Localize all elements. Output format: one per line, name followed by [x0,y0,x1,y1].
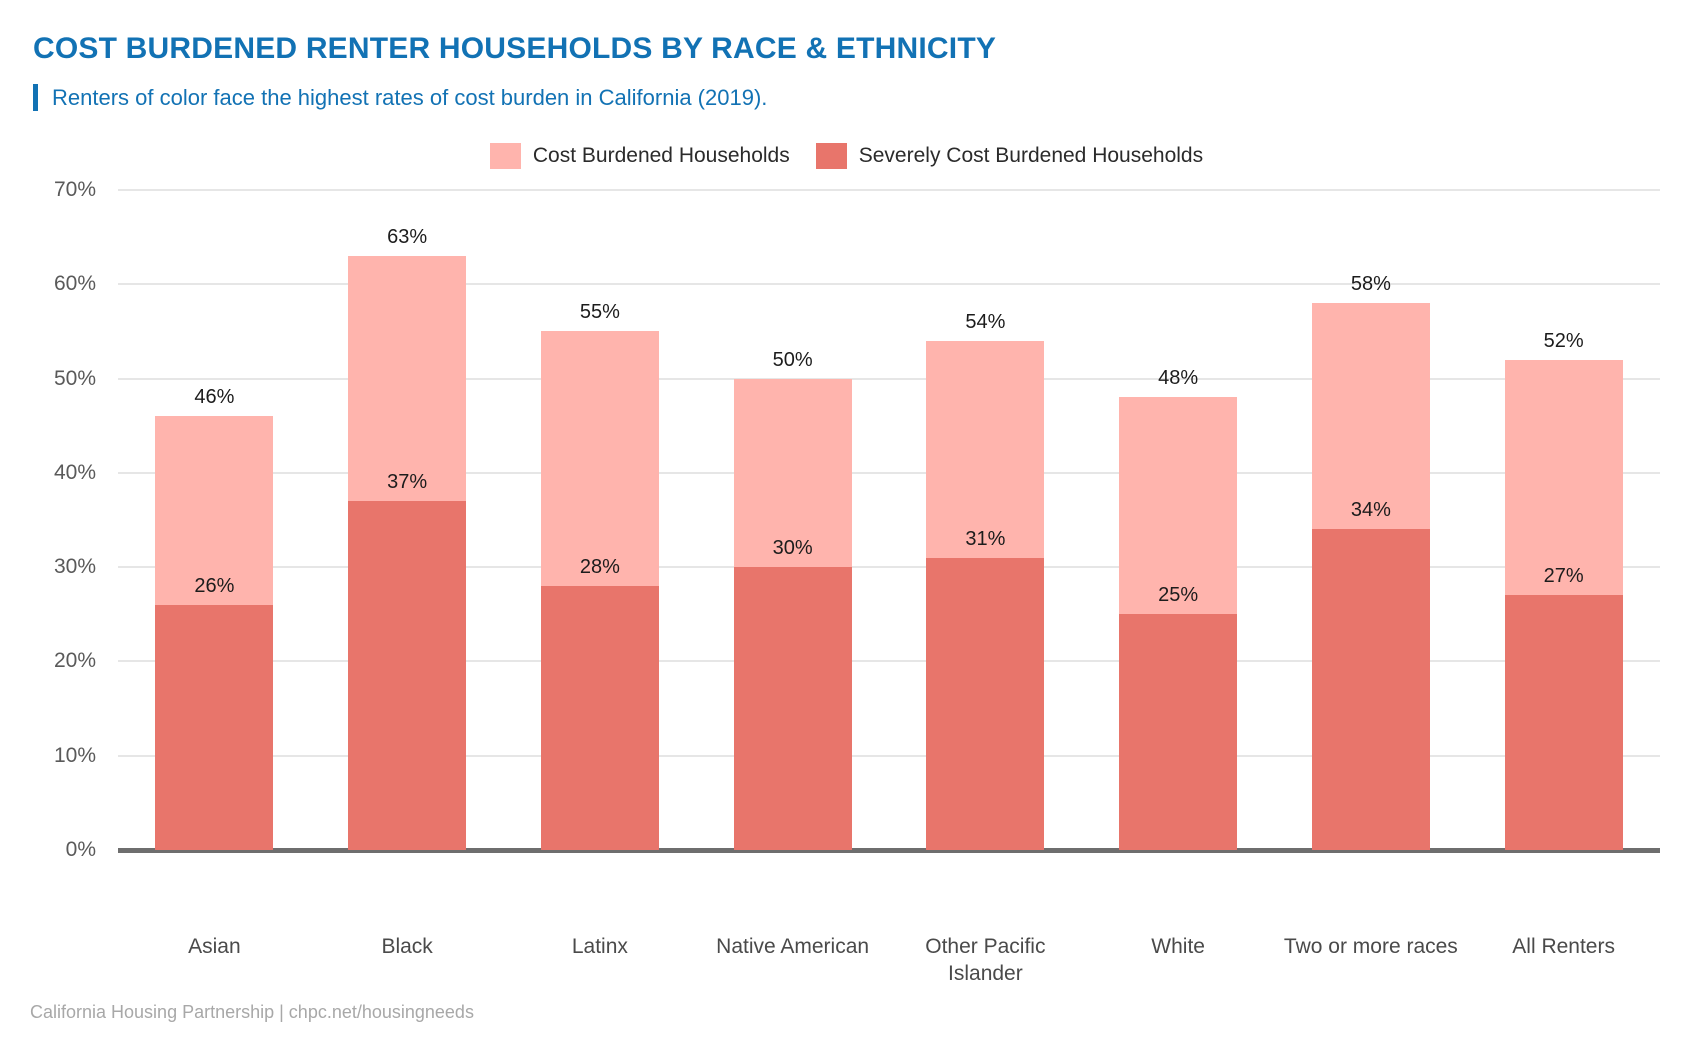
bar-group[interactable]: 54%31% [926,190,1044,915]
chart-legend: Cost Burdened HouseholdsSeverely Cost Bu… [0,143,1693,169]
legend-swatch-icon [816,143,847,169]
x-axis: AsianBlackLatinxNative AmericanOther Pac… [118,915,1660,1005]
y-axis-tick-label: 0% [66,838,96,862]
bar-value-label-total: 54% [965,311,1005,334]
bar-segment-severely-cost-burdened[interactable] [1505,595,1623,850]
bar-value-label-total: 58% [1351,273,1391,296]
y-axis-tick-label: 30% [54,555,96,579]
page-title: COST BURDENED RENTER HOUSEHOLDS BY RACE … [33,32,996,66]
bar-segment-severely-cost-burdened[interactable] [734,567,852,850]
bar-value-label-total: 48% [1158,367,1198,390]
y-axis-tick-label: 50% [54,367,96,391]
y-axis-tick-label: 60% [54,272,96,296]
bar-value-label-severe: 34% [1351,499,1391,522]
bar-group[interactable]: 50%30% [734,190,852,915]
chart-source-footer: California Housing Partnership | chpc.ne… [30,1002,474,1023]
x-axis-tick-label: White [1082,933,1275,960]
x-axis-tick-label: All Renters [1467,933,1660,960]
x-axis-tick-label: Latinx [504,933,697,960]
bar-segment-severely-cost-burdened[interactable] [1119,614,1237,850]
bar-value-label-total: 63% [387,226,427,249]
bar-value-label-severe: 26% [194,575,234,598]
bar-value-label-total: 52% [1544,330,1584,353]
bar-value-label-severe: 28% [580,556,620,579]
x-axis-tick-label: Other Pacific Islander [889,933,1082,987]
bar-group[interactable]: 46%26% [155,190,273,915]
plot-area: 0%10%20%30%40%50%60%70% 46%26%63%37%55%2… [0,190,1693,915]
bar-segment-severely-cost-burdened[interactable] [926,558,1044,850]
y-axis-tick-label: 10% [54,744,96,768]
bar-value-label-total: 46% [194,386,234,409]
legend-label: Cost Burdened Households [533,144,790,168]
bar-value-label-severe: 27% [1544,565,1584,588]
x-axis-tick-label: Asian [118,933,311,960]
bars-layer: 46%26%63%37%55%28%50%30%54%31%48%25%58%3… [118,190,1660,915]
bar-segment-severely-cost-burdened[interactable] [1312,529,1430,850]
chart-subtitle-row: Renters of color face the highest rates … [33,84,767,111]
legend-item-cost-burdened[interactable]: Cost Burdened Households [490,143,790,169]
bar-value-label-total: 55% [580,301,620,324]
chart-subtitle: Renters of color face the highest rates … [52,85,767,111]
bar-segment-severely-cost-burdened[interactable] [348,501,466,850]
bar-group[interactable]: 63%37% [348,190,466,915]
bar-group[interactable]: 48%25% [1119,190,1237,915]
bar-value-label-severe: 30% [773,537,813,560]
bar-value-label-severe: 31% [965,528,1005,551]
legend-item-severely-cost-burdened[interactable]: Severely Cost Burdened Households [816,143,1203,169]
bar-group[interactable]: 52%27% [1505,190,1623,915]
bar-group[interactable]: 55%28% [541,190,659,915]
bar-segment-severely-cost-burdened[interactable] [155,605,273,850]
bar-group[interactable]: 58%34% [1312,190,1430,915]
y-axis-tick-label: 20% [54,649,96,673]
y-axis-tick-label: 40% [54,461,96,485]
x-axis-tick-label: Native American [696,933,889,960]
legend-swatch-icon [490,143,521,169]
y-axis-tick-label: 70% [54,178,96,202]
x-axis-tick-label: Two or more races [1275,933,1468,960]
x-axis-tick-label: Black [311,933,504,960]
legend-label: Severely Cost Burdened Households [859,144,1203,168]
bar-value-label-total: 50% [773,349,813,372]
subtitle-accent-bar [33,84,38,111]
bar-value-label-severe: 37% [387,471,427,494]
bar-value-label-severe: 25% [1158,584,1198,607]
y-axis: 0%10%20%30%40%50%60%70% [0,190,118,915]
bar-segment-severely-cost-burdened[interactable] [541,586,659,850]
